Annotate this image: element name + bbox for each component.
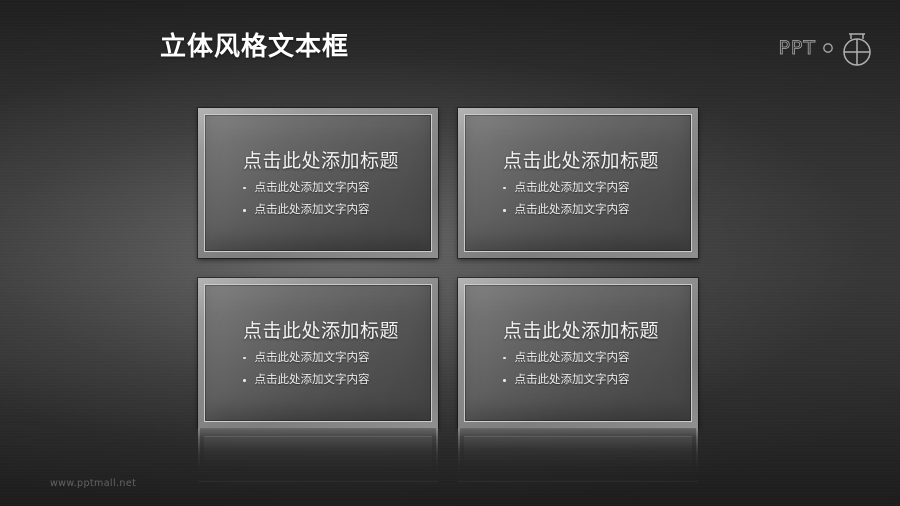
- list-item-label: 点击此处添加文字内容: [515, 374, 630, 386]
- panel-face: 点击此处添加标题 点击此处添加文字内容 点击此处添加文字内容: [464, 284, 692, 422]
- panel-content: 点击此处添加标题 点击此处添加文字内容 点击此处添加文字内容: [205, 115, 431, 216]
- panel-bullet-list: 点击此处添加文字内容 点击此处添加文字内容: [503, 182, 677, 216]
- panel-grid: 点击此处添加标题 点击此处添加文字内容 点击此处添加文字内容: [198, 108, 698, 428]
- reflection-edge-right: [436, 428, 438, 470]
- list-item-label: 点击此处添加文字内容: [255, 352, 370, 364]
- text-panel-bottom-right[interactable]: 点击此处添加标题 点击此处添加文字内容 点击此处添加文字内容: [458, 278, 698, 428]
- text-panel-top-left[interactable]: 点击此处添加标题 点击此处添加文字内容 点击此处添加文字内容: [198, 108, 438, 258]
- bullet-dot-icon: [503, 379, 506, 382]
- text-panel-top-right[interactable]: 点击此处添加标题 点击此处添加文字内容 点击此处添加文字内容: [458, 108, 698, 258]
- panel-face: 点击此处添加标题 点击此处添加文字内容 点击此处添加文字内容: [464, 114, 692, 252]
- list-item[interactable]: 点击此处添加文字内容: [243, 182, 417, 194]
- bullet-dot-icon: [243, 187, 246, 190]
- panel-bullet-list: 点击此处添加文字内容 点击此处添加文字内容: [243, 352, 417, 386]
- reflection-inner: [464, 436, 692, 470]
- panel-content: 点击此处添加标题 点击此处添加文字内容 点击此处添加文字内容: [465, 285, 691, 386]
- list-item[interactable]: 点击此处添加文字内容: [503, 352, 677, 364]
- slide-header: 立体风格文本框 PPT: [0, 0, 900, 92]
- bullet-dot-icon: [243, 209, 246, 212]
- panel-reflection-left: [198, 428, 438, 482]
- reflection-body: [458, 428, 698, 482]
- text-panel-bottom-left[interactable]: 点击此处添加标题 点击此处添加文字内容 点击此处添加文字内容: [198, 278, 438, 428]
- list-item[interactable]: 点击此处添加文字内容: [503, 204, 677, 216]
- list-item-label: 点击此处添加文字内容: [255, 204, 370, 216]
- list-item[interactable]: 点击此处添加文字内容: [243, 204, 417, 216]
- reflection-edge-right: [696, 428, 698, 470]
- panel-reflection-right: [458, 428, 698, 482]
- slide-canvas: 立体风格文本框 PPT 点击此处添加标题: [0, 0, 900, 506]
- reflection-inner: [204, 436, 432, 470]
- list-item[interactable]: 点击此处添加文字内容: [503, 182, 677, 194]
- circle-cross-emblem-icon: [840, 28, 874, 68]
- panel-title[interactable]: 点击此处添加标题: [243, 321, 417, 343]
- watermark: www.pptmall.net: [50, 478, 136, 489]
- list-item-label: 点击此处添加文字内容: [515, 204, 630, 216]
- reflection-edge-left: [198, 428, 200, 470]
- reflection-body: [198, 428, 438, 482]
- panel-title[interactable]: 点击此处添加标题: [503, 321, 677, 343]
- bullet-dot-icon: [243, 357, 246, 360]
- small-circle-icon: [820, 40, 836, 56]
- bullet-dot-icon: [243, 379, 246, 382]
- panel-content: 点击此处添加标题 点击此处添加文字内容 点击此处添加文字内容: [465, 115, 691, 216]
- reflection-edge-left: [458, 428, 460, 470]
- list-item[interactable]: 点击此处添加文字内容: [243, 352, 417, 364]
- list-item-label: 点击此处添加文字内容: [255, 182, 370, 194]
- list-item[interactable]: 点击此处添加文字内容: [243, 374, 417, 386]
- list-item[interactable]: 点击此处添加文字内容: [503, 374, 677, 386]
- panel-face: 点击此处添加标题 点击此处添加文字内容 点击此处添加文字内容: [204, 284, 432, 422]
- bullet-dot-icon: [503, 357, 506, 360]
- bullet-dot-icon: [503, 187, 506, 190]
- list-item-label: 点击此处添加文字内容: [515, 352, 630, 364]
- bullet-dot-icon: [503, 209, 506, 212]
- panel-bullet-list: 点击此处添加文字内容 点击此处添加文字内容: [243, 182, 417, 216]
- panel-content: 点击此处添加标题 点击此处添加文字内容 点击此处添加文字内容: [205, 285, 431, 386]
- page-title: 立体风格文本框: [160, 26, 349, 63]
- list-item-label: 点击此处添加文字内容: [255, 374, 370, 386]
- brand-logo: PPT: [778, 28, 874, 68]
- panel-face: 点击此处添加标题 点击此处添加文字内容 点击此处添加文字内容: [204, 114, 432, 252]
- brand-logo-text: PPT: [778, 39, 816, 58]
- list-item-label: 点击此处添加文字内容: [515, 182, 630, 194]
- panel-bullet-list: 点击此处添加文字内容 点击此处添加文字内容: [503, 352, 677, 386]
- panel-title[interactable]: 点击此处添加标题: [503, 151, 677, 173]
- panel-title[interactable]: 点击此处添加标题: [243, 151, 417, 173]
